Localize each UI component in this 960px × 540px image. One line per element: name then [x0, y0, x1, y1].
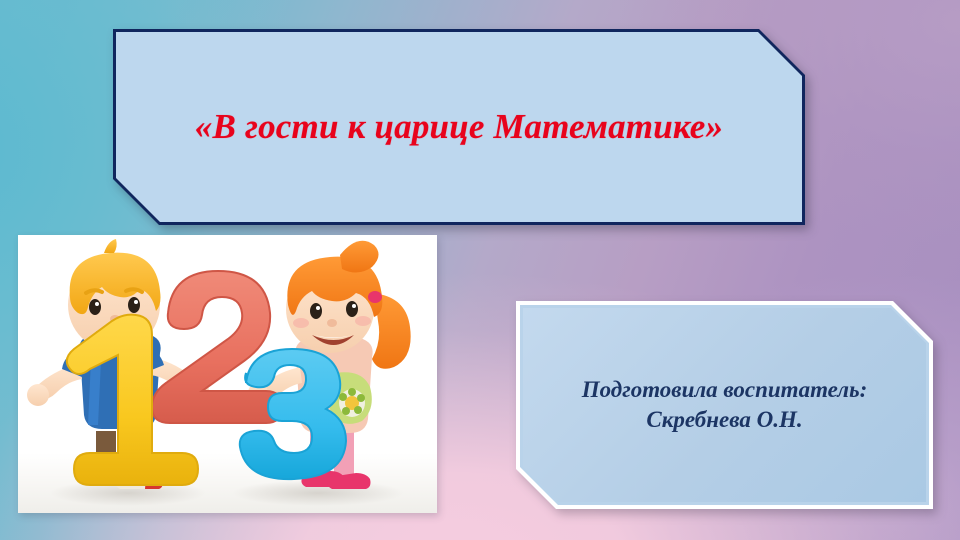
title-callout-box[interactable]: «В гости к царице Математике» — [113, 29, 805, 225]
author-role-line: Подготовила воспитатель: — [582, 375, 868, 405]
author-callout-box[interactable]: Подготовила воспитатель: Скребнева О.Н. — [516, 301, 933, 509]
slide-canvas: «В гости к царице Математике» Подготовил… — [0, 0, 960, 540]
numeral-two — [152, 271, 282, 423]
author-name-line: Скребнева О.Н. — [646, 405, 802, 435]
illustration-svg — [18, 235, 437, 513]
page-title: «В гости к царице Математике» — [113, 29, 805, 225]
illustration-canvas — [18, 235, 437, 513]
illustration-kids-with-numbers — [18, 235, 437, 513]
author-credit: Подготовила воспитатель: Скребнева О.Н. — [516, 301, 933, 509]
